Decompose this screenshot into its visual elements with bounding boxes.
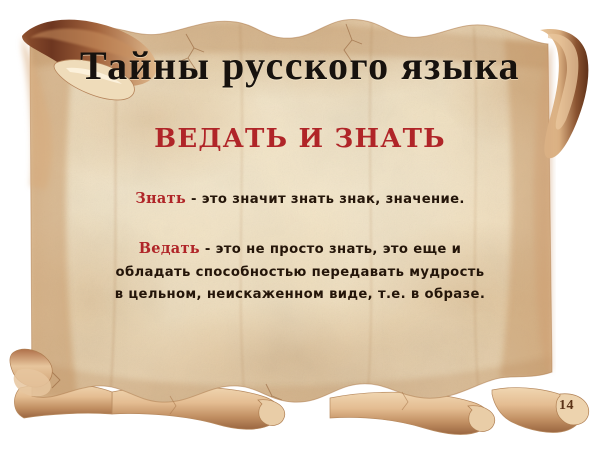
definition-paragraph-znat: Знать - это значит знать знак, значение.	[50, 188, 550, 212]
page-number: 14	[559, 398, 574, 414]
keyword-vedat: Ведать	[139, 240, 200, 257]
keyword-znat: Знать	[135, 190, 186, 207]
definition-paragraph-vedat: Ведать - это не просто знать, это еще и …	[50, 238, 550, 307]
page-subtitle: ВЕДАТЬ И ЗНАТЬ	[0, 124, 600, 154]
definition-text-vedat-line-3: в цельном, неискаженном виде, т.е. в обр…	[115, 287, 485, 302]
slide-canvas: Тайны русского языка ВЕДАТЬ И ЗНАТЬ Знат…	[0, 0, 600, 456]
definition-text-vedat-line-2: обладать способностью передавать мудрост…	[116, 265, 485, 280]
definition-text-vedat-line-1: - это не просто знать, это еще и	[200, 242, 461, 257]
page-title: Тайны русского языка	[0, 43, 600, 89]
definition-text-znat: - это значит знать знак, значение.	[186, 192, 465, 207]
